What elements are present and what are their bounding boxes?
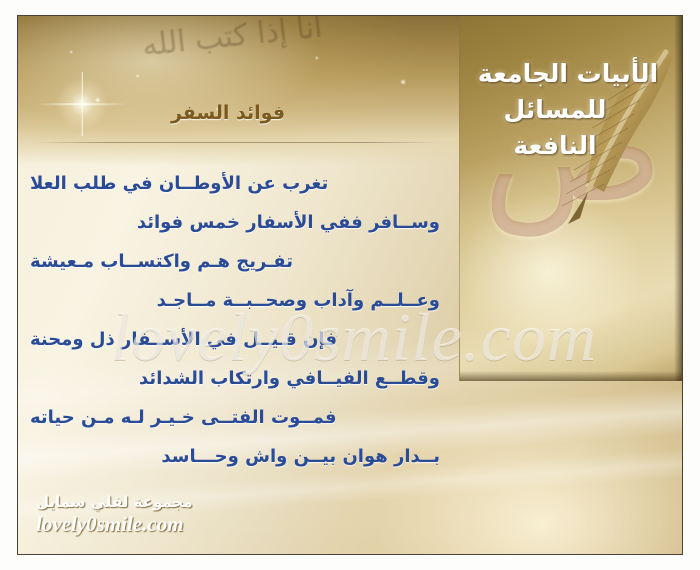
verse-line: تفـريج هـم واكتســاب مـعيشة	[18, 242, 448, 281]
card-frame: أنا إذا كتب الله ص	[17, 15, 683, 555]
verse-line: وقطــع الفيــافي وارتكاب الشدائد	[18, 359, 448, 398]
verse-line: تغرب عن الأوطــان في طلب العلا	[18, 164, 448, 203]
panel-bottom-shadow	[460, 371, 682, 381]
poetry-card: أنا إذا كتب الله ص	[0, 0, 700, 570]
verse-line: فإن قـيــل في الأســفار ذل ومحنة	[18, 320, 448, 359]
page-title: فوائد السفر	[18, 102, 438, 124]
verse-line: بــدار هوان بيــن واش وحـــاسد	[18, 437, 448, 476]
right-decorative-panel: ص	[459, 16, 682, 381]
verse-line: وعــلــم وآداب وصحــبــة مــاجـد	[18, 281, 448, 320]
book-title-line1: الأبيات الجامعة	[460, 56, 676, 92]
verse-line: فمــوت الفتــى خـيـر لـه مـن حياته	[18, 398, 448, 437]
book-title-line2: للمسائل النافعة	[460, 92, 676, 164]
brand-block: مجموعة لفلي سمايل lovely0smile.com	[36, 493, 336, 536]
book-title: الأبيات الجامعة للمسائل النافعة	[460, 56, 676, 164]
content-sheet: فوائد السفر تغرب عن الأوطــان في طلب الع…	[18, 76, 466, 546]
title-divider	[34, 142, 438, 143]
brand-arabic-label: مجموعة لفلي سمايل	[36, 493, 336, 512]
panel-right-edge-shadow	[674, 16, 682, 381]
verse-list: تغرب عن الأوطــان في طلب العلاوســافر فف…	[18, 164, 448, 476]
verse-line: وســافر ففي الأسفار خمس فوائد	[18, 203, 448, 242]
brand-url-label: lovely0smile.com	[36, 512, 336, 536]
